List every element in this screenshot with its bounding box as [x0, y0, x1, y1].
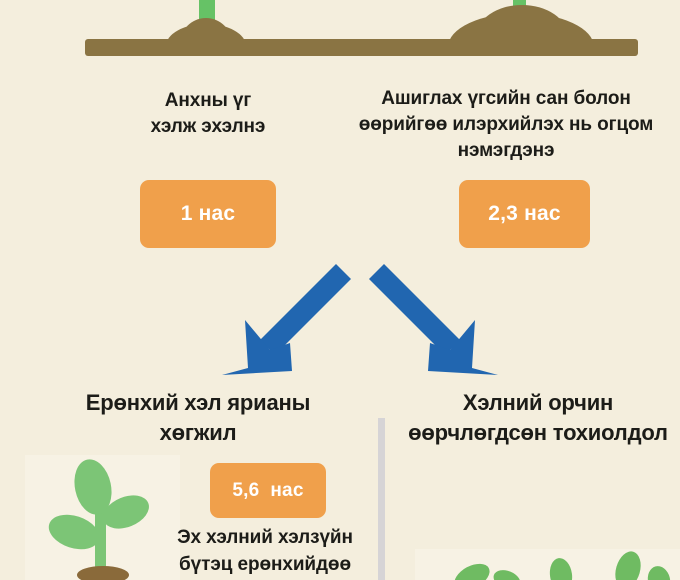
- stage-caption-left: Анхны үг хэлж эхэлнэ: [100, 88, 316, 140]
- branch-arrows: [220, 258, 500, 380]
- branch-heading-left: Ерөнхий хэл ярианы хөгжил: [48, 388, 348, 449]
- age-badge-2[interactable]: 2,3 нас: [459, 180, 590, 248]
- arrow-down-left-icon: [222, 264, 351, 375]
- leaves-icon: [415, 549, 680, 580]
- infographic-page: Анхны үг хэлж эхэлнэ Ашиглах үгсийн сан …: [0, 0, 680, 580]
- branch-detail-left: Эх хэлний хэлзүйн бүтэц ерөнхийдөө: [150, 525, 380, 579]
- stage-caption-right: Ашиглах үгсийн сан болон өөрийгөө илэрхи…: [348, 86, 664, 165]
- arrow-down-right-icon: [369, 264, 498, 375]
- soil-ground-line: [85, 39, 638, 56]
- age-badge-3[interactable]: 5,6 нас: [210, 463, 326, 518]
- branch-heading-right: Хэлний орчин өөрчлөгдсөн тохиолдол: [406, 388, 670, 449]
- soil-mound-right-top: [476, 5, 568, 37]
- soil-scene: [0, 0, 680, 62]
- seedling-photo-right: [415, 549, 680, 580]
- age-badge-1[interactable]: 1 нас: [140, 180, 276, 248]
